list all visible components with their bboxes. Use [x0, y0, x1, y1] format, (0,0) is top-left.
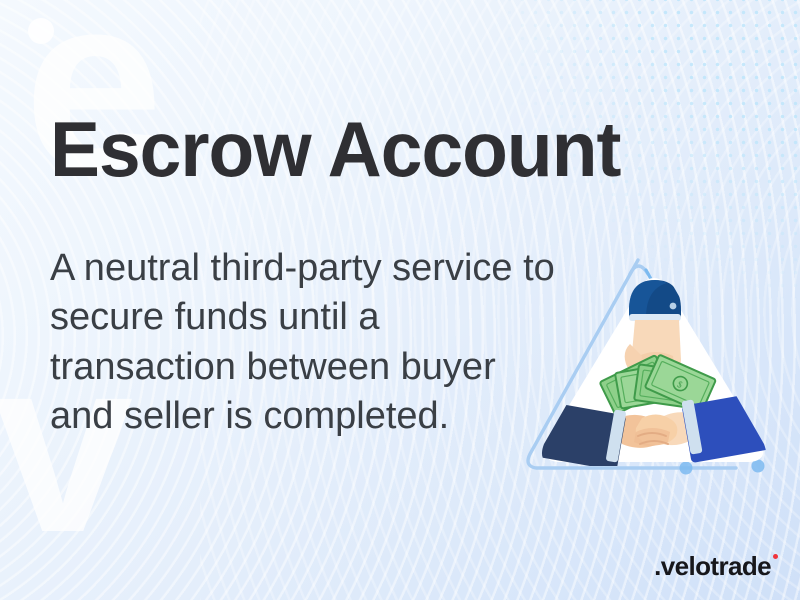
velotrade-logo[interactable]: .velotrade [654, 551, 778, 582]
logo-accent-dot [773, 554, 778, 559]
watermark-dot [28, 18, 54, 44]
banner-canvas: e v Escrow Account A neutral third-party… [0, 0, 800, 600]
escrow-handshake-money-illustration: $ $ $ [518, 248, 790, 516]
logo-wordmark: .velotrade [654, 551, 771, 582]
page-title: Escrow Account [50, 104, 620, 195]
page-description: A neutral third-party service to secure … [50, 244, 562, 442]
